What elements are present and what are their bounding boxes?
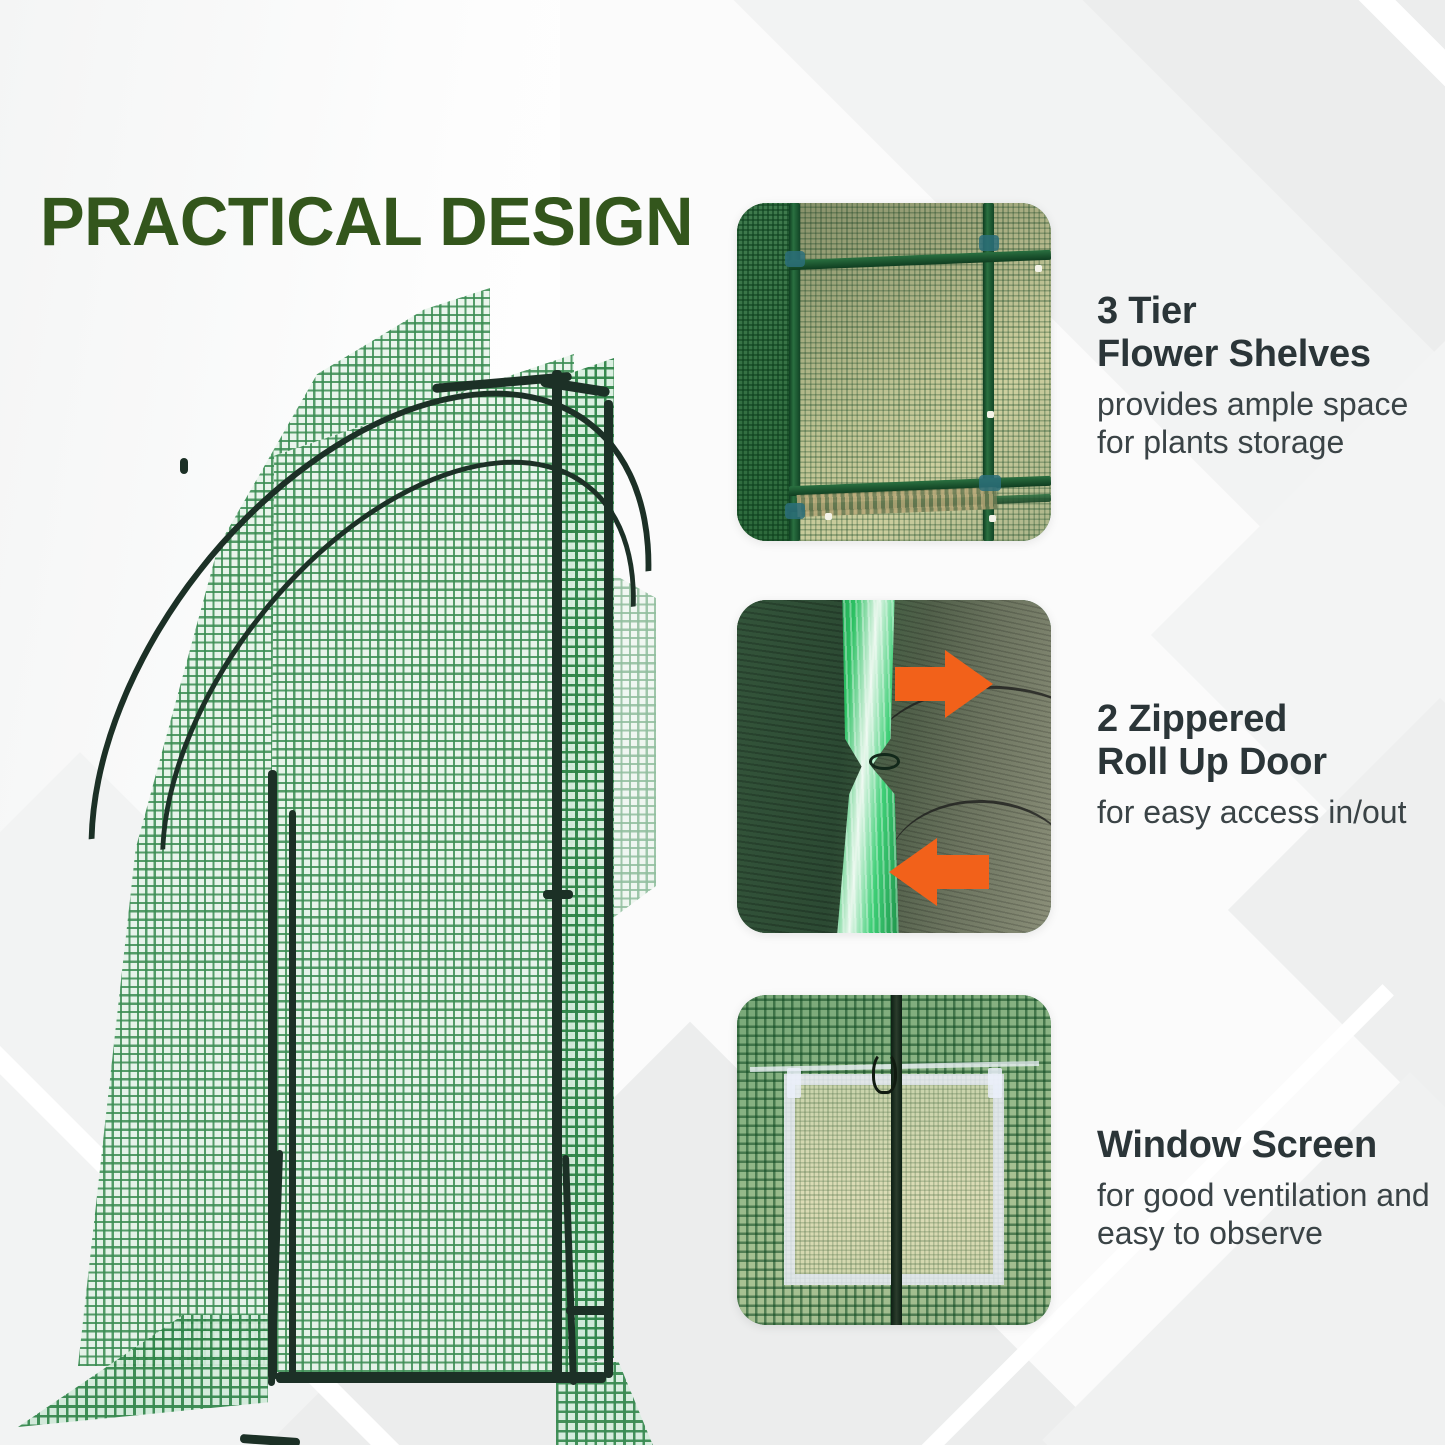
shelf-joint-left-bottom [785,503,805,519]
frame-crossbar-right-lower [566,1306,610,1315]
shelf-joint-right-bottom [979,475,1001,491]
arrow-right-head [945,650,993,718]
arrow-left-head [889,838,937,906]
shelf-screw-2 [825,513,832,520]
shelf-joint-left-top [785,251,805,267]
shelf-screw-1 [987,411,994,418]
feature-photo-window-screen[interactable] [737,995,1051,1325]
shelf-joint-right-top [979,235,999,251]
frame-crossbar-right [543,890,573,899]
window-clip-right [988,1068,1002,1098]
feature-photo-roll-up-door[interactable] [737,600,1051,933]
door-tie-strap [869,753,900,770]
photo-left-wall [737,203,791,541]
product-hero-image [0,250,720,1410]
shelf-screw-4 [1035,265,1042,272]
frame-beam-bottom [276,1372,606,1383]
arrow-left-shaft [931,855,989,889]
canopy-clip-top [180,458,188,474]
arrow-right-icon [895,650,993,718]
arrow-left-icon [889,838,989,906]
feature-heading-roll-up-door: 2 Zippered Roll Up Door [1097,698,1442,784]
window-center-pole [891,995,902,1325]
feature-photo-flower-shelves[interactable] [737,203,1051,541]
page-title: PRACTICAL DESIGN [40,182,693,261]
window-clip-left [787,1068,801,1098]
window-tie-string [872,1051,897,1094]
feature-subtext-flower-shelves: provides ample space for plants storage [1097,385,1437,462]
feature-heading-flower-shelves: 3 Tier Flower Shelves [1097,290,1437,376]
feature-subtext-roll-up-door: for easy access in/out [1097,793,1442,831]
feature-heading-window-screen: Window Screen [1097,1124,1442,1167]
feature-subtext-window-screen: for good ventilation and easy to observe [1097,1176,1442,1253]
shelf-screw-3 [989,515,996,522]
